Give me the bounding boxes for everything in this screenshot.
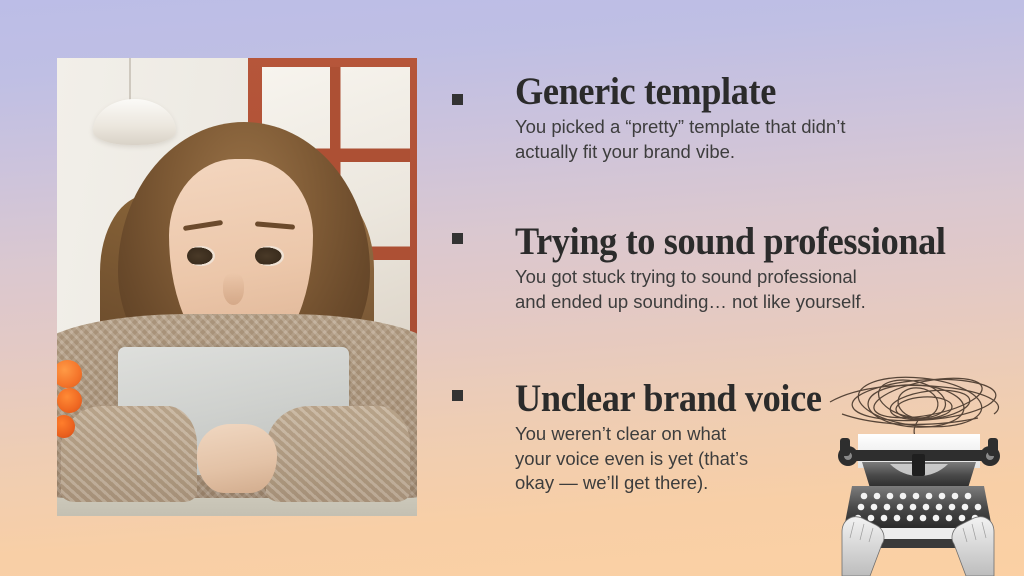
bullet-item-1: Generic template You picked a “pretty” t…	[452, 72, 845, 164]
hand-left	[842, 517, 884, 576]
bullet-item-2: Trying to sound professional You got stu…	[452, 222, 978, 314]
typewriter-illustration	[812, 362, 1024, 576]
bullet-text-2: Trying to sound professional You got stu…	[515, 222, 978, 314]
bullet-heading-2: Trying to sound professional	[515, 222, 946, 261]
hand-right	[952, 517, 994, 576]
bullet-heading-1: Generic template	[515, 72, 822, 111]
square-bullet-icon	[452, 233, 463, 244]
square-bullet-icon	[452, 94, 463, 105]
bullet-text-1: Generic template You picked a “pretty” t…	[515, 72, 845, 164]
typewriter-collage	[812, 362, 1024, 576]
bullet-item-3: Unclear brand voice You weren’t clear on…	[452, 379, 845, 496]
bullet-body-1: You picked a “pretty” template that didn…	[515, 115, 845, 164]
bullet-body-2: You got stuck trying to sound profession…	[515, 265, 978, 314]
bullet-heading-3: Unclear brand voice	[515, 379, 822, 418]
square-bullet-icon	[452, 390, 463, 401]
slide-canvas: Generic template You picked a “pretty” t…	[0, 0, 1024, 576]
bullet-text-3: Unclear brand voice You weren’t clear on…	[515, 379, 845, 496]
bullet-body-3: You weren’t clear on what your voice eve…	[515, 422, 845, 496]
